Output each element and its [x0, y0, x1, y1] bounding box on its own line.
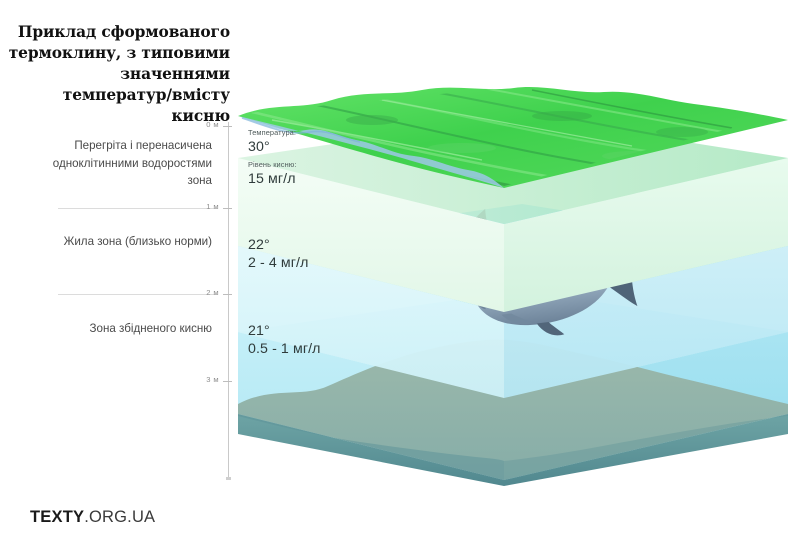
tick-mark [223, 294, 232, 295]
depth-tick-label: 1 м [206, 202, 219, 211]
tick-mark [223, 208, 232, 209]
zone-label-1: Перегріта і перенасичена одноклітинними … [32, 137, 212, 190]
zone-label-3: Зона збідненого кисню [32, 320, 212, 338]
infographic-page: Приклад сформованого термоклину, з типов… [0, 0, 800, 540]
logo-domain-text: .ORG.UA [84, 508, 155, 526]
zone-1-temperature-caption: Температура: [248, 127, 297, 138]
zone-2-oxygen-value: 2 - 4 мг/л [248, 254, 308, 272]
zone-3-oxygen-value: 0.5 - 1 мг/л [248, 340, 321, 358]
depth-tick-label: 2 м [206, 288, 219, 297]
depth-tick-label: 0 м [206, 120, 219, 129]
logo-bold-text: TEXTY [30, 508, 84, 526]
zone-3-temperature-value: 21° [248, 322, 321, 340]
zone-1-oxygen-caption: Рівень кисню: [248, 159, 297, 170]
zone-1-temperature-value: 30° [248, 138, 297, 156]
depth-axis-line [228, 122, 229, 480]
depth-axis: 0 м 1 м 2 м 3 м [0, 0, 260, 540]
tick-rule [58, 294, 218, 295]
depth-tick-2: 2 м [0, 294, 232, 295]
depth-tick-label: 3 м [206, 375, 219, 384]
zone-label-2: Жила зона (близько норми) [32, 233, 212, 251]
zone-2-temperature-value: 22° [248, 236, 308, 254]
zone-1-oxygen-value: 15 мг/л [248, 170, 297, 188]
tick-mark [223, 126, 232, 127]
tick-rule [58, 208, 218, 209]
texty-logo[interactable]: TEXTY.ORG.UA [30, 508, 155, 527]
depth-tick-0: 0 м [0, 126, 232, 127]
zone-3-values: 21° 0.5 - 1 мг/л [248, 322, 321, 358]
zone-2-values: 22° 2 - 4 мг/л [248, 236, 308, 272]
zone-1-values: Температура: 30° Рівень кисню: 15 мг/л [248, 127, 297, 188]
depth-tick-1: 1 м [0, 208, 232, 209]
depth-axis-end-marker [226, 477, 231, 480]
depth-tick-3: 3 м [0, 381, 232, 382]
water-column-illustration [232, 86, 794, 486]
tick-mark [223, 381, 232, 382]
